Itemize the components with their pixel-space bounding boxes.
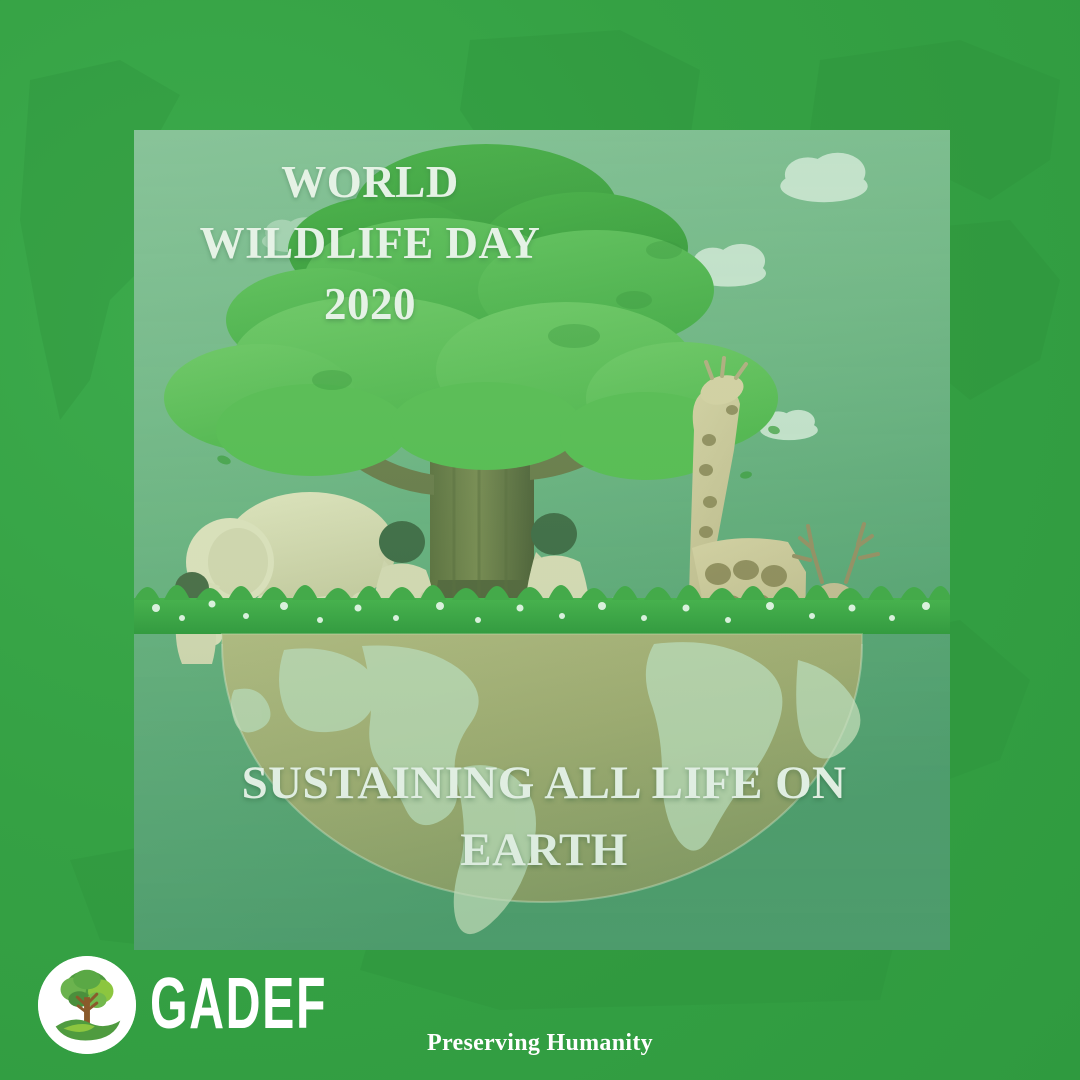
poster-headline: WORLD WILDLIFE DAY 2020 (160, 152, 580, 336)
headline-line-3: 2020 (160, 274, 580, 335)
headline-line-2: WILDLIFE DAY (160, 213, 580, 274)
poster-canvas: WORLD WILDLIFE DAY 2020 SUSTAINING ALL L… (0, 0, 1080, 1080)
tagline-line-1: SUSTAINING ALL LIFE ON (194, 750, 894, 817)
artwork-panel: WORLD WILDLIFE DAY 2020 SUSTAINING ALL L… (134, 130, 950, 950)
brand-motto: Preserving Humanity (0, 1030, 1080, 1057)
poster-tagline: SUSTAINING ALL LIFE ON EARTH (194, 750, 894, 883)
tagline-line-2: EARTH (194, 817, 894, 884)
headline-line-1: WORLD (160, 152, 580, 213)
